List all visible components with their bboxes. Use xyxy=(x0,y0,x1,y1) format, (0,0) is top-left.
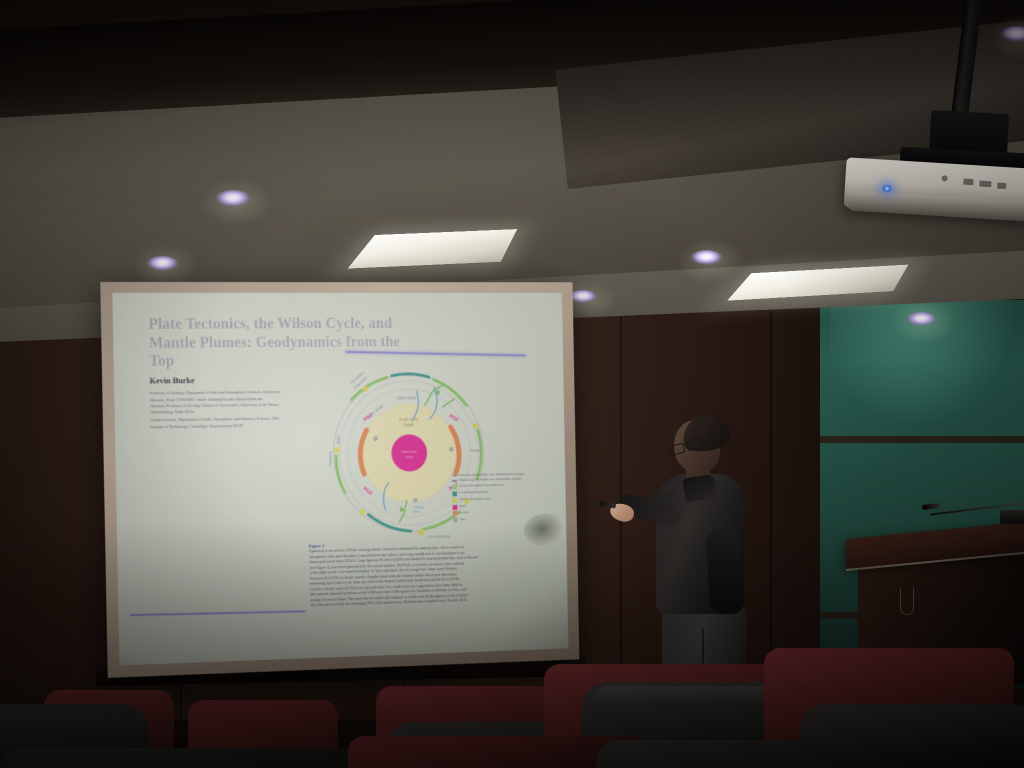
ceiling-downlight xyxy=(215,190,251,207)
wall-rail xyxy=(820,436,1024,443)
projection-screen: Plate Tectonics, the Wilson Cycle, and M… xyxy=(100,282,579,678)
ceiling-downlight xyxy=(146,256,179,271)
legend-label: Slab xyxy=(460,517,466,522)
legend-label: LLSVP xyxy=(459,510,469,515)
legend-label: PGZ xyxy=(459,504,465,509)
ceiling-downlight xyxy=(690,250,723,265)
slide-title: Plate Tectonics, the Wilson Cycle, and M… xyxy=(148,315,404,371)
svg-text:Upper mantle: Upper mantle xyxy=(397,396,416,400)
ceiling-downlight xyxy=(906,312,937,326)
svg-text:Core mantle bdy: Core mantle bdy xyxy=(427,534,451,538)
svg-text:Subduction: Subduction xyxy=(404,372,420,376)
svg-text:Inner core: Inner core xyxy=(401,450,416,454)
svg-text:solid: solid xyxy=(406,455,413,459)
svg-text:liquid: liquid xyxy=(404,422,414,427)
lecture-hall-photo: Plate Tectonics, the Wilson Cycle, and M… xyxy=(0,0,1024,768)
projector-power-led xyxy=(882,185,892,192)
microphone-base xyxy=(1000,510,1024,524)
screen-surface: Plate Tectonics, the Wilson Cycle, and M… xyxy=(112,293,568,666)
footer-accent-rule xyxy=(131,610,306,616)
figure-caption: Figure 5 Equatorial cross section of Ear… xyxy=(309,537,540,609)
legend-label: Continental lithosphere xyxy=(459,490,488,495)
slide-author: Kevin Burke xyxy=(150,376,195,385)
presenter-right-arm xyxy=(706,527,744,615)
auditorium-seat xyxy=(596,740,1024,768)
svg-text:Plumes: Plumes xyxy=(470,448,481,452)
podium-cable-hook xyxy=(900,588,914,615)
legend-label: Oceanic spreading centre xyxy=(459,497,491,502)
svg-text:Slabs: Slabs xyxy=(336,435,340,444)
svg-text:slab: slab xyxy=(413,509,419,513)
auditorium-seat xyxy=(0,748,380,768)
legend-label: Dispersed grain lengths over intermediat… xyxy=(459,477,522,483)
legend-label: Oceanic lithosphere and subduction xyxy=(459,483,504,488)
svg-text:Transition: Transition xyxy=(328,451,332,466)
slide: Plate Tectonics, the Wilson Cycle, and M… xyxy=(112,293,568,666)
legend-label: Dominant grain lengths over different ph… xyxy=(459,471,525,477)
